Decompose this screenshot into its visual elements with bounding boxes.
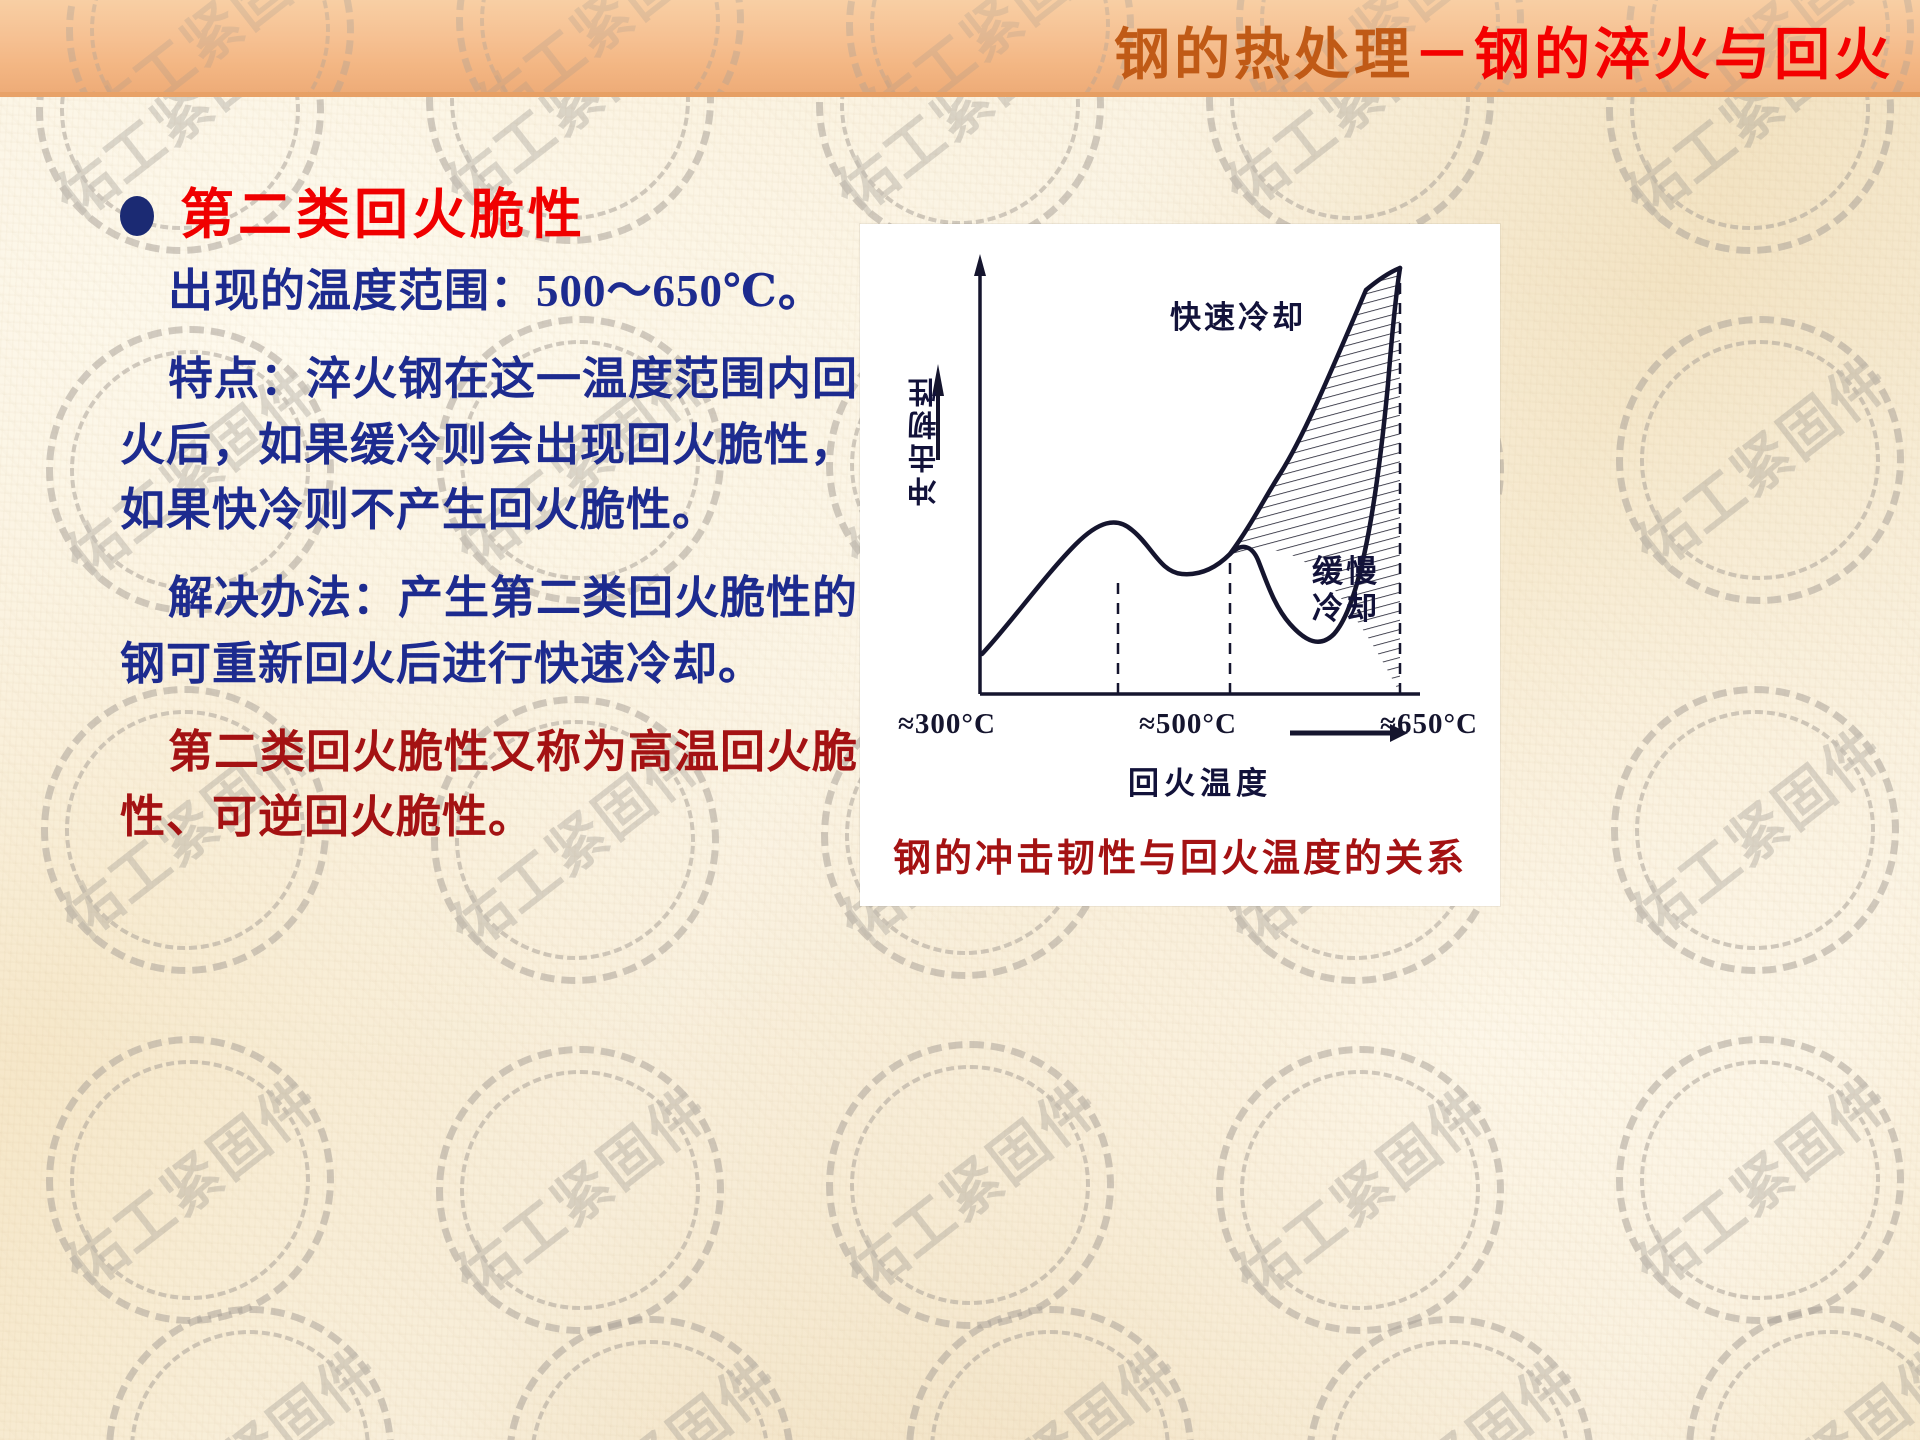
page-title-accent: －钢的淬火与回火 — [1414, 25, 1894, 87]
watermark-stamp: 佑工紧固件 — [840, 0, 1140, 92]
chart-x-axis-label: 回火温度 — [1128, 758, 1272, 803]
section-heading-label: 第二类回火脆性 — [180, 186, 586, 245]
paragraph-alias: 第二类回火脆性又称为高温回火脆性、可逆回火脆性。 — [120, 720, 860, 851]
y-axis-arrowhead — [974, 254, 986, 276]
annotation-slow-cooling: 缓慢 冷却 — [1312, 554, 1380, 627]
watermark-stamp: 佑工紧固件 — [60, 0, 360, 92]
figure-card: 快速冷却 缓慢 冷却 冲击韧性 ≈300°C ≈500°C ≈650°C 回火温… — [860, 224, 1500, 906]
page-title-main: 钢的热处理 — [1114, 25, 1414, 87]
x-tick-500: ≈500°C — [1139, 708, 1237, 741]
header-underline — [0, 92, 1920, 97]
chart-y-axis-label: 冲击韧性 — [904, 374, 946, 506]
annotation-fast-cooling: 快速冷却 — [1170, 292, 1306, 337]
content-column: 第二类回火脆性 出现的温度范围：500～650℃。 特点：淬火钢在这一温度范围内… — [120, 186, 860, 859]
watermark-stamp: 佑工紧固件 — [450, 0, 750, 92]
x-tick-300: ≈300°C — [898, 708, 996, 741]
page-title: 钢的热处理－钢的淬火与回火 — [1114, 10, 1894, 91]
figure-caption: 钢的冲击韧性与回火温度的关系 — [860, 827, 1500, 882]
section-heading: 第二类回火脆性 — [120, 186, 860, 245]
x-axis-direction-arrow — [1290, 722, 1408, 744]
annotation-slow-cooling-line1: 缓慢 — [1312, 554, 1380, 591]
paragraph-temp-range: 出现的温度范围：500～650℃。 — [120, 259, 860, 325]
filled-circle-bullet-icon — [120, 196, 154, 236]
watermark-text: 佑工紧固件 — [389, 0, 810, 92]
paragraph-solution: 解决办法：产生第二类回火脆性的钢可重新回火后进行快速冷却。 — [120, 566, 860, 697]
paragraph-characteristics: 特点：淬火钢在这一温度范围内回火后，如果缓冷则会出现回火脆性，如果快冷则不产生回… — [120, 347, 860, 544]
annotation-slow-cooling-line2: 冷却 — [1312, 591, 1380, 628]
watermark-text: 佑工紧固件 — [0, 0, 421, 92]
